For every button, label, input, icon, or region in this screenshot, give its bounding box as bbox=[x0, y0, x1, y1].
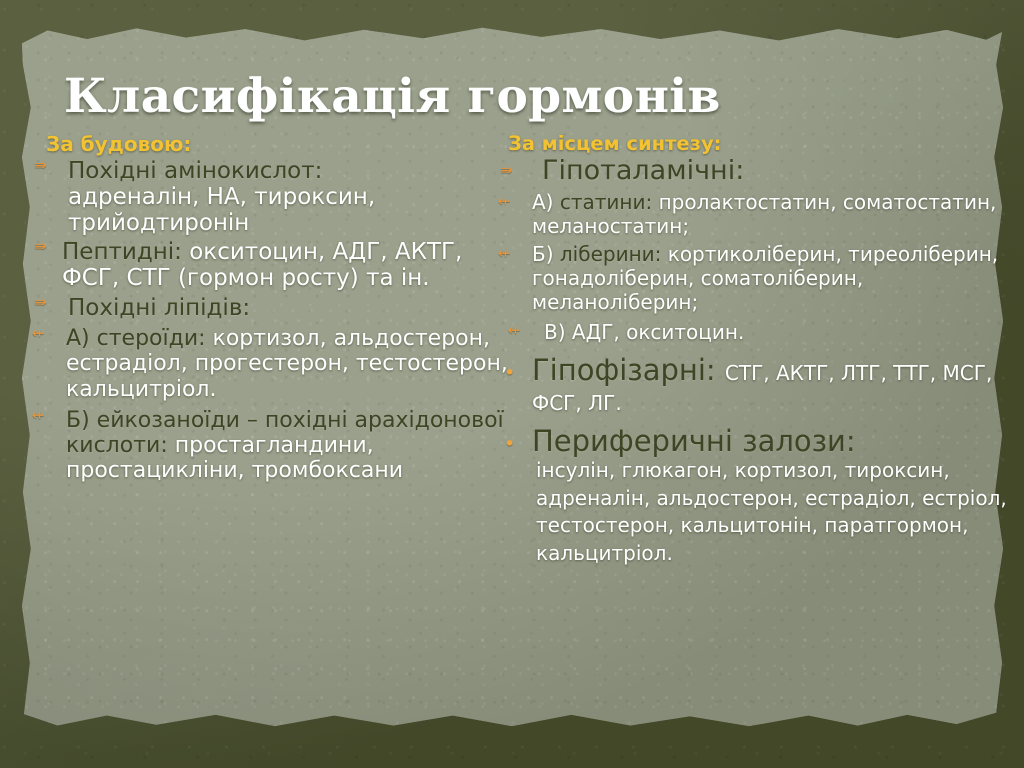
flag-bullet-icon: ⇷ bbox=[498, 246, 511, 261]
right-column-heading: За місцем синтезу: bbox=[498, 132, 1008, 155]
slide-title: Класифікація гормонів bbox=[64, 73, 721, 121]
flag-bullet-icon: ⇷ bbox=[508, 323, 521, 338]
left-column-heading: За будовою: bbox=[32, 132, 524, 156]
slide-background: Класифікація гормонів За будовою: ⇛ Похі… bbox=[0, 0, 1024, 768]
flag-bullet-icon: ⇷ bbox=[32, 326, 45, 341]
arrow-bullet-icon: ⇛ bbox=[34, 158, 47, 173]
left-column-list: ⇛ Похідні амінокислот: адреналін, НА, ти… bbox=[32, 158, 524, 484]
flag-bullet-icon: ⇷ bbox=[32, 408, 45, 423]
list-item-lead: Периферичні залози: bbox=[532, 424, 856, 458]
list-item-lead: А) стероїди: bbox=[66, 326, 206, 351]
list-item-rest: адреналін, НА, тироксин, трийодтиронін bbox=[68, 184, 524, 236]
list-item-lead: Гіпоталамічні bbox=[542, 155, 735, 186]
list-item-rest: В) АДГ, окситоцин. bbox=[532, 320, 744, 344]
right-column: За місцем синтезу: ⇛ Гіпоталамічні: ⇷ А)… bbox=[498, 132, 1008, 567]
flag-bullet-icon: ⇷ bbox=[498, 194, 511, 209]
list-item-lead: Похідні амінокислот: bbox=[68, 158, 322, 184]
list-item[interactable]: • Периферичні залози: інсулін, глюкагон,… bbox=[498, 426, 1008, 568]
right-column-list: ⇛ Гіпоталамічні: ⇷ А) статини: пролактос… bbox=[498, 156, 1008, 567]
list-item-lead: Гіпофізарні: bbox=[532, 353, 716, 387]
list-item[interactable]: ⇛ Похідні амінокислот: адреналін, НА, ти… bbox=[32, 158, 524, 236]
list-item-rest: : bbox=[735, 155, 744, 186]
list-item[interactable]: ⇷ А) статини: пролактостатин, соматостат… bbox=[498, 190, 1008, 238]
list-item-lead: ліберини: bbox=[560, 242, 661, 266]
list-item-rest: інсулін, глюкагон, кортизол, тироксин, а… bbox=[532, 457, 1008, 567]
list-item-prefix: А) bbox=[532, 190, 560, 214]
list-item[interactable]: ⇷ Б) ейкозаноїди – похідні арахідонової … bbox=[32, 408, 524, 484]
list-item-lead: Похідні ліпідів: bbox=[68, 295, 250, 321]
arrow-bullet-icon: ⇛ bbox=[500, 163, 513, 178]
list-item[interactable]: • Гіпофізарні: СТГ, АКТГ, ЛТГ, ТТГ, МСГ,… bbox=[498, 355, 1008, 416]
dot-bullet-icon: • bbox=[504, 435, 515, 454]
list-item[interactable]: ⇷ А) стероїди: кортизол, альдостерон, ес… bbox=[32, 326, 524, 402]
left-column: За будовою: ⇛ Похідні амінокислот: адрен… bbox=[32, 132, 524, 484]
list-item-lead: статини: bbox=[560, 190, 652, 214]
list-item[interactable]: ⇷ Б) ліберини: кортиколіберин, тиреолібе… bbox=[498, 242, 1008, 314]
list-item[interactable]: ⇛ Пептидні: окситоцин, АДГ, АКТГ, ФСГ, С… bbox=[32, 239, 524, 291]
list-item-prefix: Б) bbox=[532, 242, 560, 266]
arrow-bullet-icon: ⇛ bbox=[34, 239, 47, 254]
list-item[interactable]: ⇷ В) АДГ, окситоцин. bbox=[498, 320, 1008, 344]
list-item[interactable]: ⇛ Гіпоталамічні: bbox=[498, 156, 1008, 186]
list-item-lead: Пептидні: bbox=[62, 239, 182, 265]
dot-bullet-icon: • bbox=[504, 364, 515, 383]
list-item[interactable]: ⇛ Похідні ліпідів: bbox=[32, 295, 524, 321]
slide-content: Класифікація гормонів За будовою: ⇛ Похі… bbox=[0, 0, 1024, 768]
arrow-bullet-icon: ⇛ bbox=[34, 295, 47, 310]
